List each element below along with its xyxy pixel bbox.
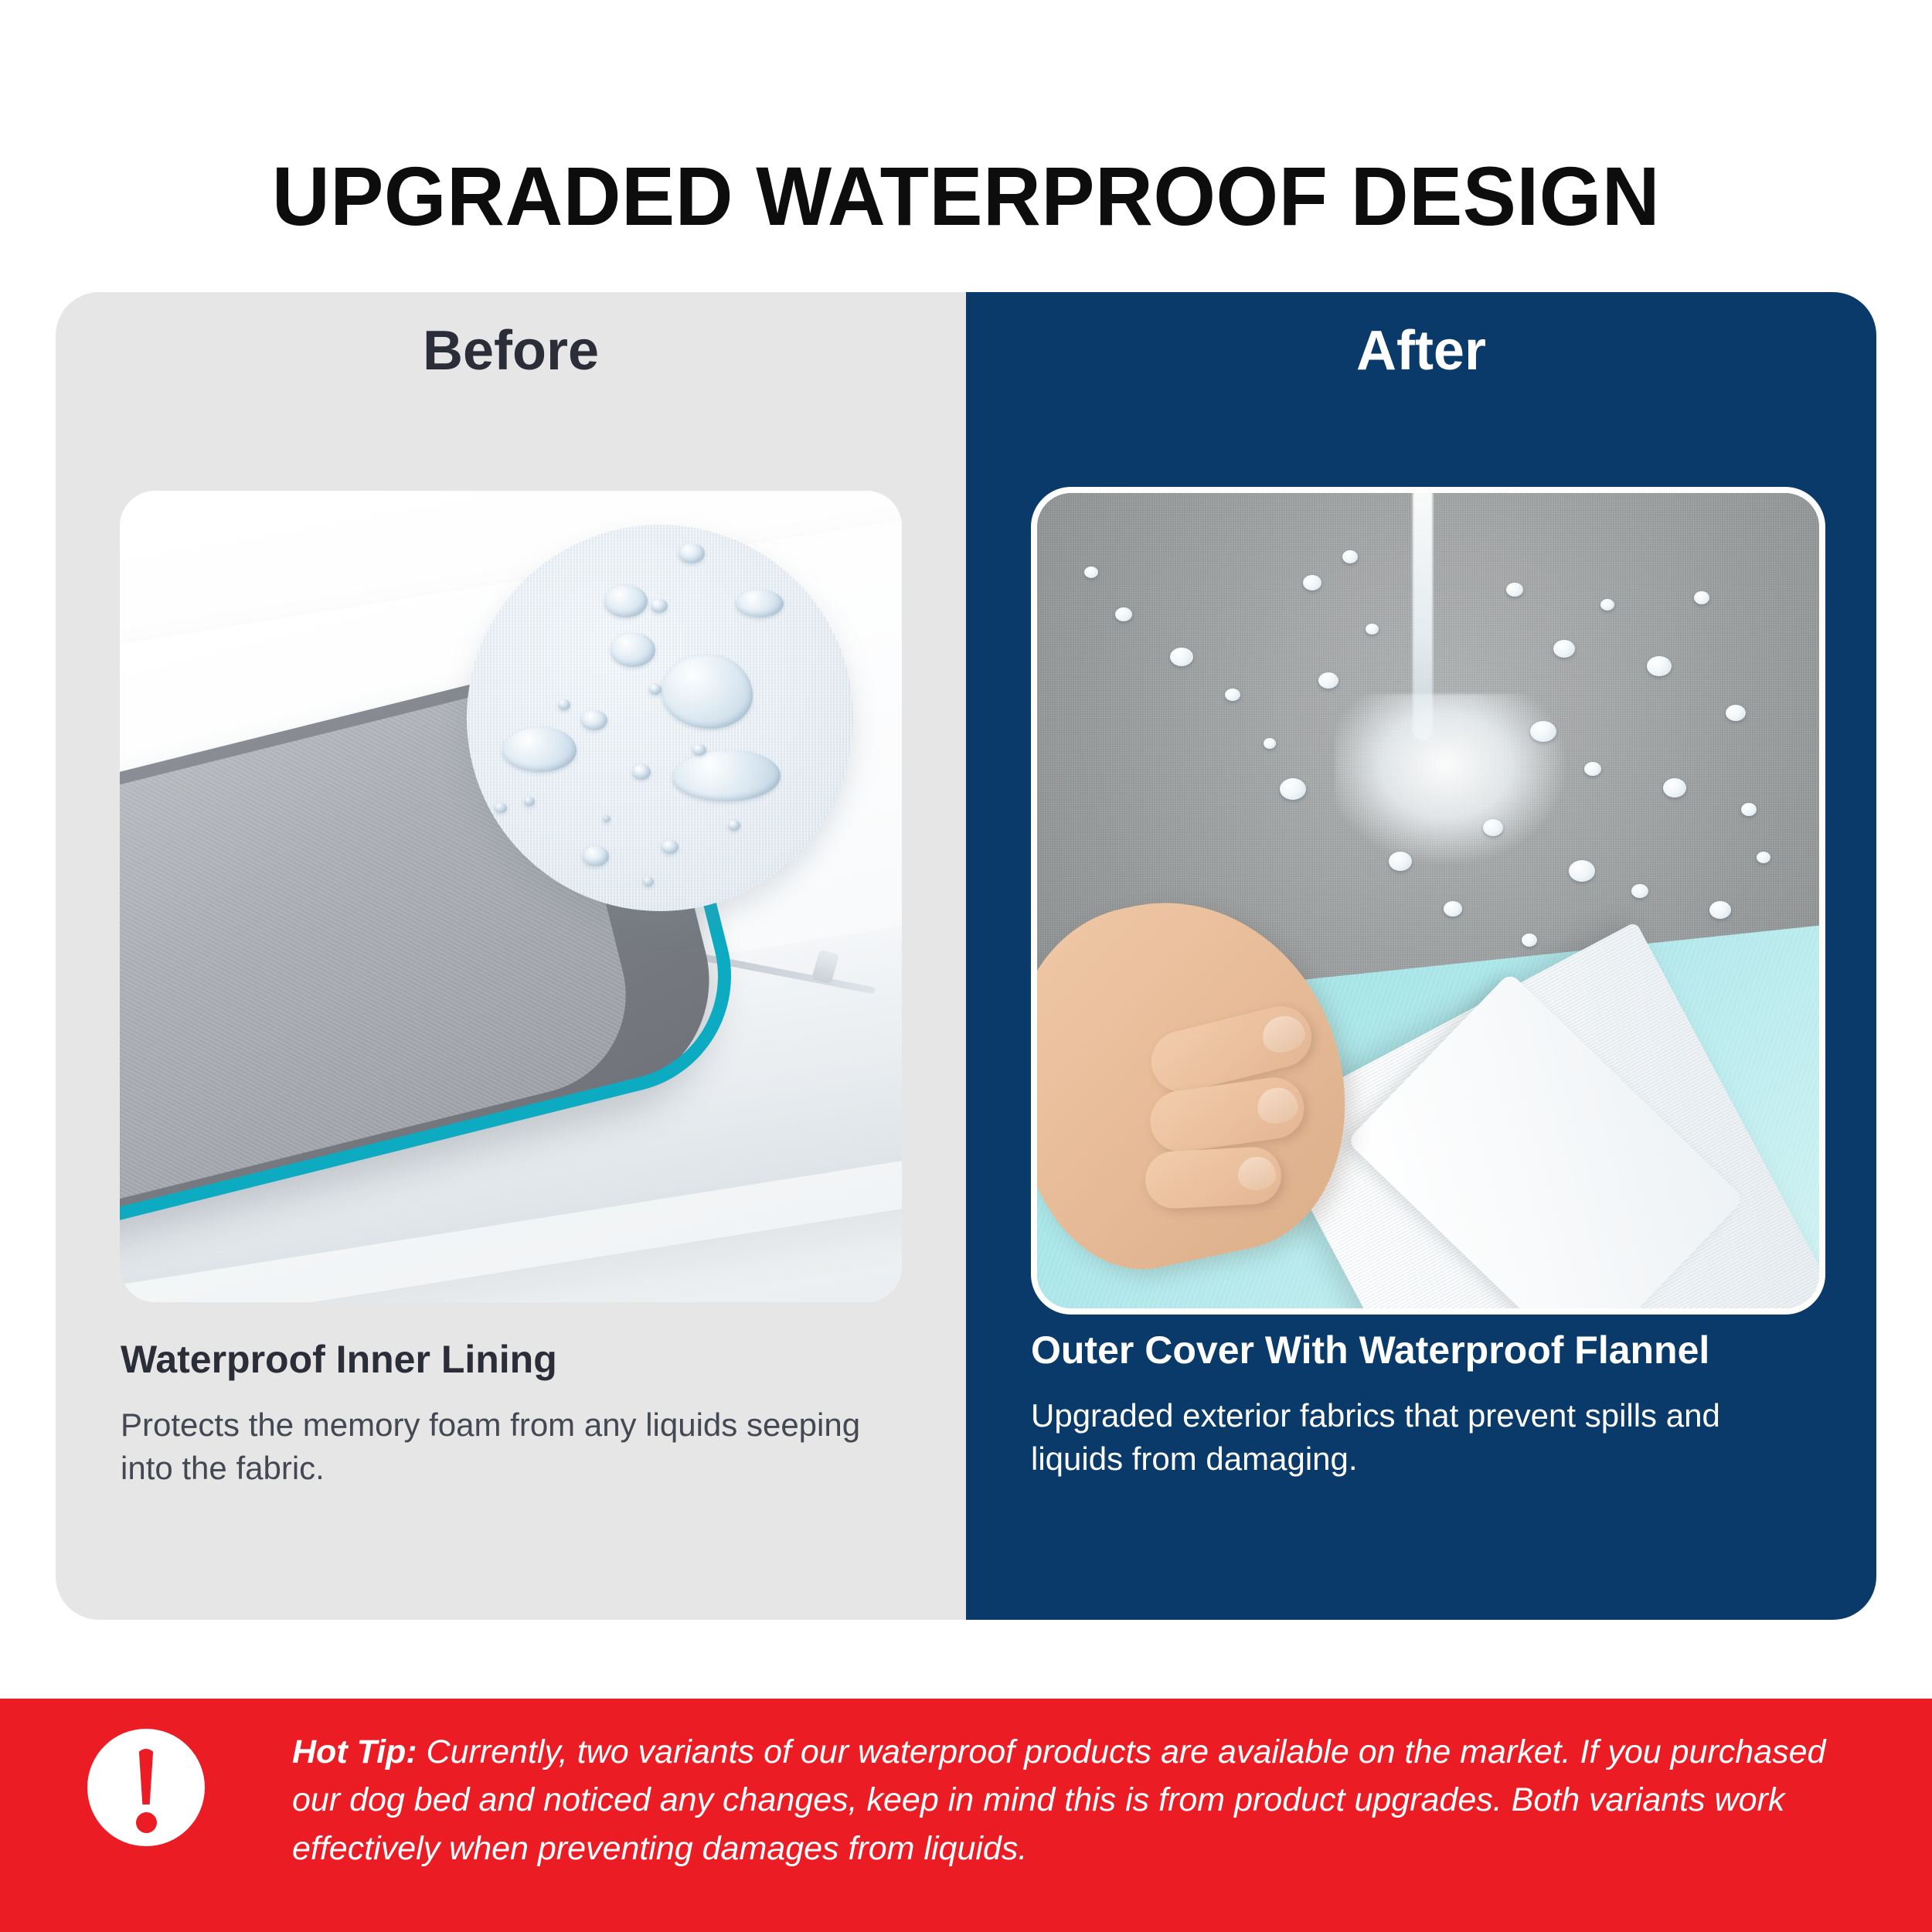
hand	[1037, 852, 1468, 1260]
water-bead	[1663, 778, 1686, 798]
water-droplet	[632, 764, 651, 780]
fingernail	[1258, 1012, 1308, 1057]
comparison-panels: Before	[56, 292, 1876, 1620]
before-photo-scene	[120, 491, 902, 1302]
water-bead	[1726, 705, 1746, 721]
after-photo-scene	[1037, 493, 1819, 1308]
panel-after: After	[966, 292, 1876, 1620]
hot-tip-banner: Hot Tip: Currently, two variants of our …	[0, 1699, 1932, 1932]
water-droplet	[611, 633, 655, 667]
water-bead	[1225, 689, 1240, 701]
water-droplet-large	[662, 655, 753, 729]
water-bead	[1084, 566, 1098, 578]
after-caption-body: Upgraded exterior fabrics that prevent s…	[1031, 1394, 1819, 1481]
water-droplet	[495, 803, 507, 813]
fingernail	[1255, 1086, 1300, 1127]
water-droplet	[651, 599, 668, 613]
exclamation-icon	[87, 1729, 205, 1846]
before-caption-title: Waterproof Inner Lining	[121, 1337, 909, 1382]
water-bead	[1741, 803, 1757, 816]
hot-tip-body: Currently, two variants of our waterproo…	[292, 1733, 1825, 1867]
water-bead	[1483, 819, 1503, 836]
panel-after-photo	[1031, 487, 1825, 1315]
hot-tip-label: Hot Tip:	[292, 1733, 417, 1770]
water-bead	[1264, 738, 1276, 749]
water-droplet	[643, 877, 654, 886]
water-droplet	[558, 699, 570, 710]
water-bead	[1694, 591, 1709, 604]
ring-finger	[1144, 1146, 1283, 1210]
water-droplet-large	[672, 750, 781, 801]
panel-before-heading: Before	[56, 323, 966, 379]
water-bead	[1569, 860, 1595, 882]
water-bead	[1522, 934, 1537, 947]
panel-before: Before	[56, 292, 966, 1620]
water-bead	[1303, 575, 1321, 590]
water-droplet	[736, 590, 784, 617]
water-droplet	[692, 744, 706, 756]
water-droplet	[581, 710, 607, 730]
page-title: UPGRADED WATERPROOF DESIGN	[39, 155, 1893, 238]
panel-before-caption: Waterproof Inner Lining Protects the mem…	[121, 1337, 909, 1491]
water-bead	[1600, 599, 1614, 611]
water-bead	[1280, 778, 1306, 800]
water-bead	[1366, 624, 1379, 634]
water-droplet-inset	[467, 525, 853, 911]
water-droplet	[662, 840, 679, 854]
water-bead	[1709, 901, 1731, 919]
after-caption-title: Outer Cover With Waterproof Flannel	[1031, 1328, 1819, 1372]
water-droplet	[604, 585, 648, 617]
hot-tip-text: Hot Tip: Currently, two variants of our …	[292, 1728, 1869, 1872]
water-droplet	[583, 846, 609, 866]
panel-after-heading: After	[966, 323, 1876, 379]
water-droplet	[679, 543, 705, 563]
panel-after-caption: Outer Cover With Waterproof Flannel Upgr…	[1031, 1328, 1819, 1481]
before-caption-body: Protects the memory foam from any liquid…	[121, 1403, 909, 1491]
water-bead	[1553, 640, 1575, 658]
water-bead	[1115, 607, 1132, 621]
fabric-weave-texture	[467, 525, 853, 911]
water-droplet	[728, 820, 740, 831]
water-bead	[1530, 721, 1556, 742]
water-droplet	[524, 797, 535, 806]
exclamation-dot	[136, 1812, 157, 1833]
water-splash	[1335, 694, 1566, 864]
fingernail	[1236, 1156, 1276, 1191]
infographic-page: UPGRADED WATERPROOF DESIGN Before	[0, 0, 1932, 1932]
water-bead	[1342, 550, 1358, 563]
panel-before-photo	[120, 491, 902, 1302]
water-droplet	[603, 815, 611, 822]
water-droplet	[649, 684, 662, 695]
water-droplet-large	[502, 727, 577, 772]
